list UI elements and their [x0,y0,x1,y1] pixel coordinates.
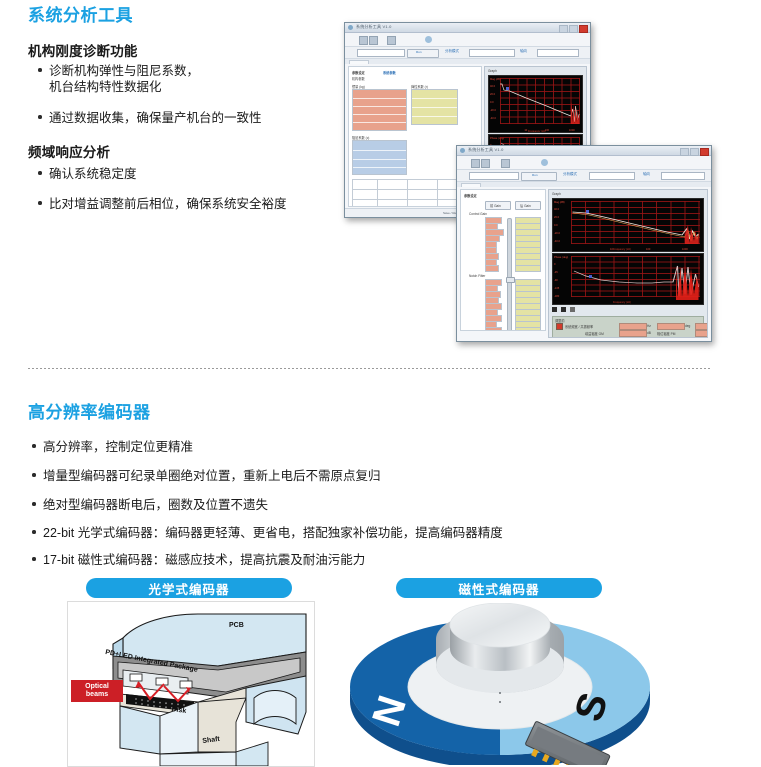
label-optical-beams: Optical beams [71,680,123,702]
measure-label: 分析模式 [445,49,459,54]
bullet-item: 22-bit 光学式编码器：编码器更轻薄、更省电，搭配独家补偿功能，提高编码器精… [32,525,503,541]
app-icon [460,148,465,153]
magnetic-encoder-diagram: N S [340,603,670,765]
app-icon [348,25,353,30]
window-control-row[interactable]: Run 分析模式 轴向 [457,170,711,182]
close-icon [700,148,709,156]
slider-knob[interactable] [506,277,515,283]
save-icon[interactable] [481,159,490,168]
help-icon[interactable] [541,159,548,166]
legend-swatch-2 [561,307,566,312]
row-label: 增益裕度 GM [585,331,604,336]
phase-trace [553,254,703,304]
window-toolbar[interactable] [345,33,590,47]
section-divider [28,368,710,369]
bullet-item: 比对增益调整前后相位，确保系统安全裕度 [38,196,287,212]
section-title-system-analysis: 系统分析工具 [28,1,133,26]
save-icon[interactable] [369,36,378,45]
bullet-item: 绝对型编码器断电后，圈数及位置不遗失 [32,497,268,513]
maximize-icon [690,148,699,156]
bode-phase-chart: Phase (deg) 0-45 -90-135 -180 Frequency … [552,253,704,305]
analysis-select[interactable] [589,172,635,180]
mode-field[interactable] [357,49,405,57]
status-led-red [556,323,563,330]
section-title-encoder: 高分辨率编码器 [28,398,151,423]
before-column-label: 前 Gain [490,203,501,208]
analysis-select[interactable] [469,49,515,57]
row-label: 系统频宽 / 共振频率 [565,324,593,329]
bullet-dot [32,444,36,448]
bullet-text: 增量型编码器可纪录单圈绝对位置，重新上电后不需原点复归 [32,468,381,484]
chart-pane: Graph Mag (dB) 40.020.0 0.0-20.0 -40.0 1… [548,189,708,338]
bullet-text: 确认系统稳定度 [38,166,137,182]
optical-beams-line1: Optical [85,683,109,690]
bullet-text: 诊断机构弹性与阻尼系数， [38,63,199,79]
row-label: 相位裕度 PM [657,331,675,336]
pane-subheading: 系统参数 [383,70,396,75]
window-control-row[interactable]: Run 分析模式 轴向 [345,47,590,59]
after-column-label: 后 Gain [520,203,531,208]
pane-heading: 参数设定 [464,193,477,198]
bullet-dot [32,530,36,534]
pill-optical-encoder[interactable]: 光学式编码器 [86,578,292,598]
window-titlebar: 系统分析工具 V1.0 [345,23,590,33]
bullet-dot [32,502,36,506]
close-icon [579,25,588,33]
label-pcb: PCB [229,622,244,629]
group-caption-control: Control Gain [469,212,487,216]
bullet-item: 通过数据收集，确保量产机台的一致性 [38,110,262,126]
group-caption: 机构参数 [352,76,365,81]
bullet-dot [32,473,36,477]
window-toolbar[interactable] [457,156,711,170]
page-root: 系统分析工具 机构刚度诊断功能 诊断机构弹性与阻尼系数， 机台结构特性数据化 通… [0,0,761,765]
axis-select[interactable] [661,172,705,180]
axis-label: 轴向 [643,172,650,177]
result-panel-before: 调整前 系统频宽 / 共振频率 Hz deg dB 增益裕度 GM dB 相位裕… [552,316,704,338]
group-caption-notch: Notch Filter [469,274,485,278]
bullet-item: 增量型编码器可纪录单圈绝对位置，重新上电后不需原点复归 [32,468,381,484]
mode-field[interactable] [469,172,519,180]
run-button[interactable] [521,172,557,181]
window-title: 系统分析工具 V1.0 [468,147,504,153]
bullet-text: 高分辨率，控制定位更精准 [32,439,193,455]
screenshot-window-front[interactable]: 系统分析工具 V1.0 Run 分析模式 轴向 参数设定 前 Gain [456,145,712,342]
help-icon[interactable] [425,36,432,43]
bullet-dot [38,201,42,205]
bullet-text: 22-bit 光学式编码器：编码器更轻薄、更省电，搭配独家补偿功能，提高编码器精… [32,525,503,541]
param-group-blue[interactable] [352,140,407,175]
bullet-text: 绝对型编码器断电后，圈数及位置不遗失 [32,497,268,513]
open-icon[interactable] [471,159,480,168]
magnitude-trace [489,76,582,132]
optical-encoder-diagram: PCB PD+LED Integrated Package Disk Shaft… [67,601,315,767]
pane-heading: 参数设定 [352,70,365,75]
bullet-dot [38,68,42,72]
bullet-item: 高分辨率，控制定位更精准 [32,439,193,455]
subtitle-stiffness-diagnosis: 机构刚度诊断功能 [28,40,138,60]
bullet-text: 比对增益调整前后相位，确保系统安全裕度 [38,196,287,212]
window-body: 参数设定 前 Gain 后 Gain Control Gain [457,187,711,341]
bullet-text: 通过数据收集，确保量产机台的一致性 [38,110,262,126]
optical-beams-line2: beams [86,691,108,698]
chart-icon[interactable] [501,159,510,168]
magnitude-trace [553,199,703,251]
chart-pane-caption: Graph [552,192,561,196]
axis-label: 轴向 [520,49,527,54]
minimize-icon [559,25,568,33]
window-titlebar: 系统分析工具 V1.0 [457,146,711,156]
bullet-dot [32,557,36,561]
subtitle-frequency-response: 频域响应分析 [28,141,110,161]
axis-select[interactable] [537,49,579,57]
run-button[interactable] [407,49,439,58]
open-icon[interactable] [359,36,368,45]
param-group-red[interactable] [352,89,407,131]
pill-magnetic-encoder[interactable]: 磁性式编码器 [396,578,602,598]
legend-swatch-1 [552,307,557,312]
window-title: 系统分析工具 V1.0 [356,24,392,30]
bode-magnitude-chart: Mag (dB) 40.020.0 0.0-20.0 -40.0 1010010… [488,75,583,133]
gain-slider[interactable] [507,218,512,331]
minimize-icon [680,148,689,156]
legend-row [552,306,704,314]
magnetic-encoder-illustration: N S [340,603,670,765]
param-group-yellow[interactable] [411,89,458,125]
maximize-icon [569,25,578,33]
window-controls[interactable] [559,25,588,33]
window-controls[interactable] [680,148,709,156]
legend-swatch-3 [570,307,575,312]
run-button-label: Run [532,173,538,177]
bullet-dot [38,115,42,119]
bullet-item: 17-bit 磁性式编码器：磁感应技术，提高抗震及耐油污能力 [32,552,365,568]
bullet-item: 诊断机构弹性与阻尼系数， 机台结构特性数据化 [38,63,199,95]
measure-label: 分析模式 [563,172,577,177]
bullet-text-line2: 机台结构特性数据化 [38,79,199,95]
bullet-text: 17-bit 磁性式编码器：磁感应技术，提高抗震及耐油污能力 [32,552,365,568]
filter-pane[interactable]: 参数设定 前 Gain 后 Gain Control Gain [460,189,546,331]
bode-magnitude-chart: Mag (dB) 40.020.0 0.0-20.0 -40.0 1010010… [552,198,704,252]
chart-pane-caption: Graph [488,69,497,73]
bullet-dot [38,171,42,175]
bullet-item: 确认系统稳定度 [38,166,137,182]
run-button-label: Run [416,50,422,54]
chart-icon[interactable] [387,36,396,45]
